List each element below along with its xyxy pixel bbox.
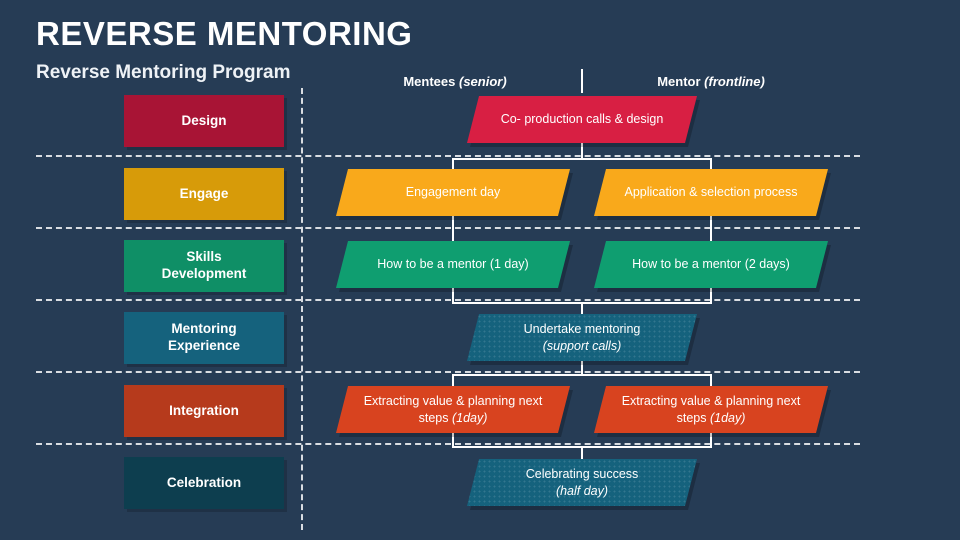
row-divider-1 <box>36 155 860 157</box>
column-header-mentor-name: Mentor <box>657 74 700 89</box>
column-header-mentor-qualifier: (frontline) <box>704 74 765 89</box>
stage-label-design-text: Design <box>181 113 226 130</box>
card-co-production[interactable]: Co- production calls & design <box>467 96 697 143</box>
card-wrap-undertake-mentoring: Undertake mentoring (support calls) <box>467 314 697 361</box>
column-header-mentees-qualifier: (senior) <box>459 74 507 89</box>
card-mentor-1day-text: How to be a mentor (1 day) <box>377 256 528 273</box>
card-wrap-application-selection: Application & selection process <box>594 169 828 216</box>
card-wrap-engagement-day: Engagement day <box>336 169 570 216</box>
card-wrap-extracting-value-mentees: Extracting value & planning next steps (… <box>336 386 570 433</box>
connector-engage-bar <box>452 158 712 160</box>
page-subtitle: Reverse Mentoring Program <box>36 62 290 84</box>
card-wrap-mentor-2days: How to be a mentor (2 days) <box>594 241 828 288</box>
card-engagement-day[interactable]: Engagement day <box>336 169 570 216</box>
column-divider-line <box>581 69 583 93</box>
card-undertake-mentoring-note: (support calls) <box>543 339 622 353</box>
connector-integration-bar <box>452 374 712 376</box>
connector-mentoring-drop <box>581 302 583 314</box>
card-undertake-mentoring-title: Undertake mentoring <box>524 322 641 336</box>
card-extracting-value-mentor-note: (1day) <box>710 411 745 425</box>
column-header-mentees-name: Mentees <box>403 74 455 89</box>
row-divider-5 <box>36 443 860 445</box>
card-extracting-value-mentees-text: Extracting value & planning next steps (… <box>350 393 556 427</box>
row-divider-2 <box>36 227 860 229</box>
card-extracting-value-mentor-text: Extracting value & planning next steps (… <box>608 393 814 427</box>
stage-label-mentoring[interactable]: MentoringExperience <box>124 312 284 364</box>
card-extracting-value-mentor[interactable]: Extracting value & planning next steps (… <box>594 386 828 433</box>
connector-integration-left-drop <box>452 374 454 386</box>
slide-canvas: REVERSE MENTORING Reverse Mentoring Prog… <box>0 0 960 540</box>
column-header-mentor: Mentor (frontline) <box>596 74 826 89</box>
card-wrap-extracting-value-mentor: Extracting value & planning next steps (… <box>594 386 828 433</box>
stage-label-engage-text: Engage <box>180 186 229 203</box>
card-application-selection-text: Application & selection process <box>624 184 797 201</box>
card-celebrating-success[interactable]: Celebrating success (half day) <box>467 459 697 506</box>
card-application-selection[interactable]: Application & selection process <box>594 169 828 216</box>
stage-label-skills[interactable]: SkillsDevelopment <box>124 240 284 292</box>
stage-label-celebration[interactable]: Celebration <box>124 457 284 509</box>
card-extracting-value-mentees-note: (1day) <box>452 411 487 425</box>
card-celebrating-success-title: Celebrating success <box>526 467 639 481</box>
stage-label-design[interactable]: Design <box>124 95 284 147</box>
card-co-production-text: Co- production calls & design <box>501 111 664 128</box>
card-celebrating-success-text: Celebrating success (half day) <box>526 466 639 500</box>
stage-label-integration[interactable]: Integration <box>124 385 284 437</box>
card-engagement-day-text: Engagement day <box>406 184 501 201</box>
card-wrap-celebrating-success: Celebrating success (half day) <box>467 459 697 506</box>
card-mentor-2days[interactable]: How to be a mentor (2 days) <box>594 241 828 288</box>
stage-label-engage[interactable]: Engage <box>124 168 284 220</box>
card-undertake-mentoring-text: Undertake mentoring (support calls) <box>524 321 641 355</box>
card-extracting-value-mentees[interactable]: Extracting value & planning next steps (… <box>336 386 570 433</box>
card-celebrating-success-note: (half day) <box>556 484 608 498</box>
card-wrap-co-production: Co- production calls & design <box>467 96 697 143</box>
card-wrap-mentor-1day: How to be a mentor (1 day) <box>336 241 570 288</box>
stage-label-skills-text: SkillsDevelopment <box>162 249 247 283</box>
connector-celebration-drop <box>581 446 583 459</box>
stage-label-mentoring-text: MentoringExperience <box>168 321 240 355</box>
page-title: REVERSE MENTORING <box>36 16 412 52</box>
column-header-mentees: Mentees (senior) <box>340 74 570 89</box>
card-undertake-mentoring[interactable]: Undertake mentoring (support calls) <box>467 314 697 361</box>
connector-integration-right-drop <box>710 374 712 386</box>
stage-label-celebration-text: Celebration <box>167 475 241 492</box>
card-mentor-1day[interactable]: How to be a mentor (1 day) <box>336 241 570 288</box>
row-divider-4 <box>36 371 860 373</box>
card-mentor-2days-text: How to be a mentor (2 days) <box>632 256 790 273</box>
stage-label-integration-text: Integration <box>169 403 239 420</box>
row-divider-3 <box>36 299 860 301</box>
